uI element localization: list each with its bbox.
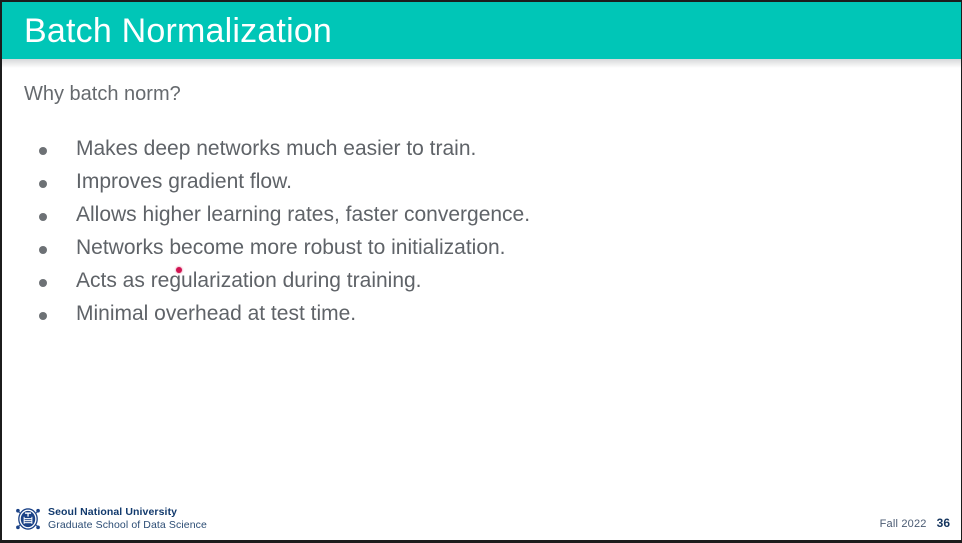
list-item-label: Makes deep networks much easier to train…: [76, 132, 476, 165]
bullet-dot-icon: [24, 133, 76, 166]
page-number: 36: [937, 516, 950, 530]
lead-question: Why batch norm?: [24, 83, 181, 106]
list-item-label: Allows higher learning rates, faster con…: [76, 198, 530, 231]
slide-body: Why batch norm? Makes deep networks much…: [2, 68, 962, 478]
university-name: Seoul National University: [48, 506, 207, 519]
list-item-label: Acts as regularization during training.: [76, 264, 422, 297]
bullet-dot-icon: [24, 199, 76, 232]
department-name: Graduate School of Data Science: [48, 519, 207, 532]
snu-crest-icon: [14, 505, 42, 533]
list-item: Minimal overhead at test time.: [24, 297, 530, 330]
bullet-dot-icon: [24, 166, 76, 199]
page-title: Batch Normalization: [24, 14, 332, 48]
list-item: Networks become more robust to initializ…: [24, 231, 530, 264]
footer-meta: Fall 2022 36: [880, 516, 950, 530]
list-item-label: Networks become more robust to initializ…: [76, 231, 506, 264]
laser-pointer-dot-icon: [176, 267, 182, 273]
slide-canvas: Batch Normalization Why batch norm? Make…: [0, 0, 962, 543]
list-item: Improves gradient flow.: [24, 165, 530, 198]
list-item: Makes deep networks much easier to train…: [24, 132, 530, 165]
list-item-label: Minimal overhead at test time.: [76, 297, 356, 330]
slide-title-bar: Batch Normalization: [2, 2, 962, 59]
list-item-label: Improves gradient flow.: [76, 165, 292, 198]
list-item: Acts as regularization during training.: [24, 264, 530, 297]
list-item: Allows higher learning rates, faster con…: [24, 198, 530, 231]
slide-footer: Seoul National University Graduate Schoo…: [2, 497, 962, 542]
university-text-block: Seoul National University Graduate Schoo…: [48, 506, 207, 532]
university-branding: Seoul National University Graduate Schoo…: [14, 505, 207, 533]
term-label: Fall 2022: [880, 518, 927, 530]
title-bar-shadow: [2, 59, 962, 68]
bullet-dot-icon: [24, 232, 76, 265]
bullet-dot-icon: [24, 298, 76, 331]
bullet-list: Makes deep networks much easier to train…: [24, 132, 530, 330]
bullet-dot-icon: [24, 265, 76, 298]
